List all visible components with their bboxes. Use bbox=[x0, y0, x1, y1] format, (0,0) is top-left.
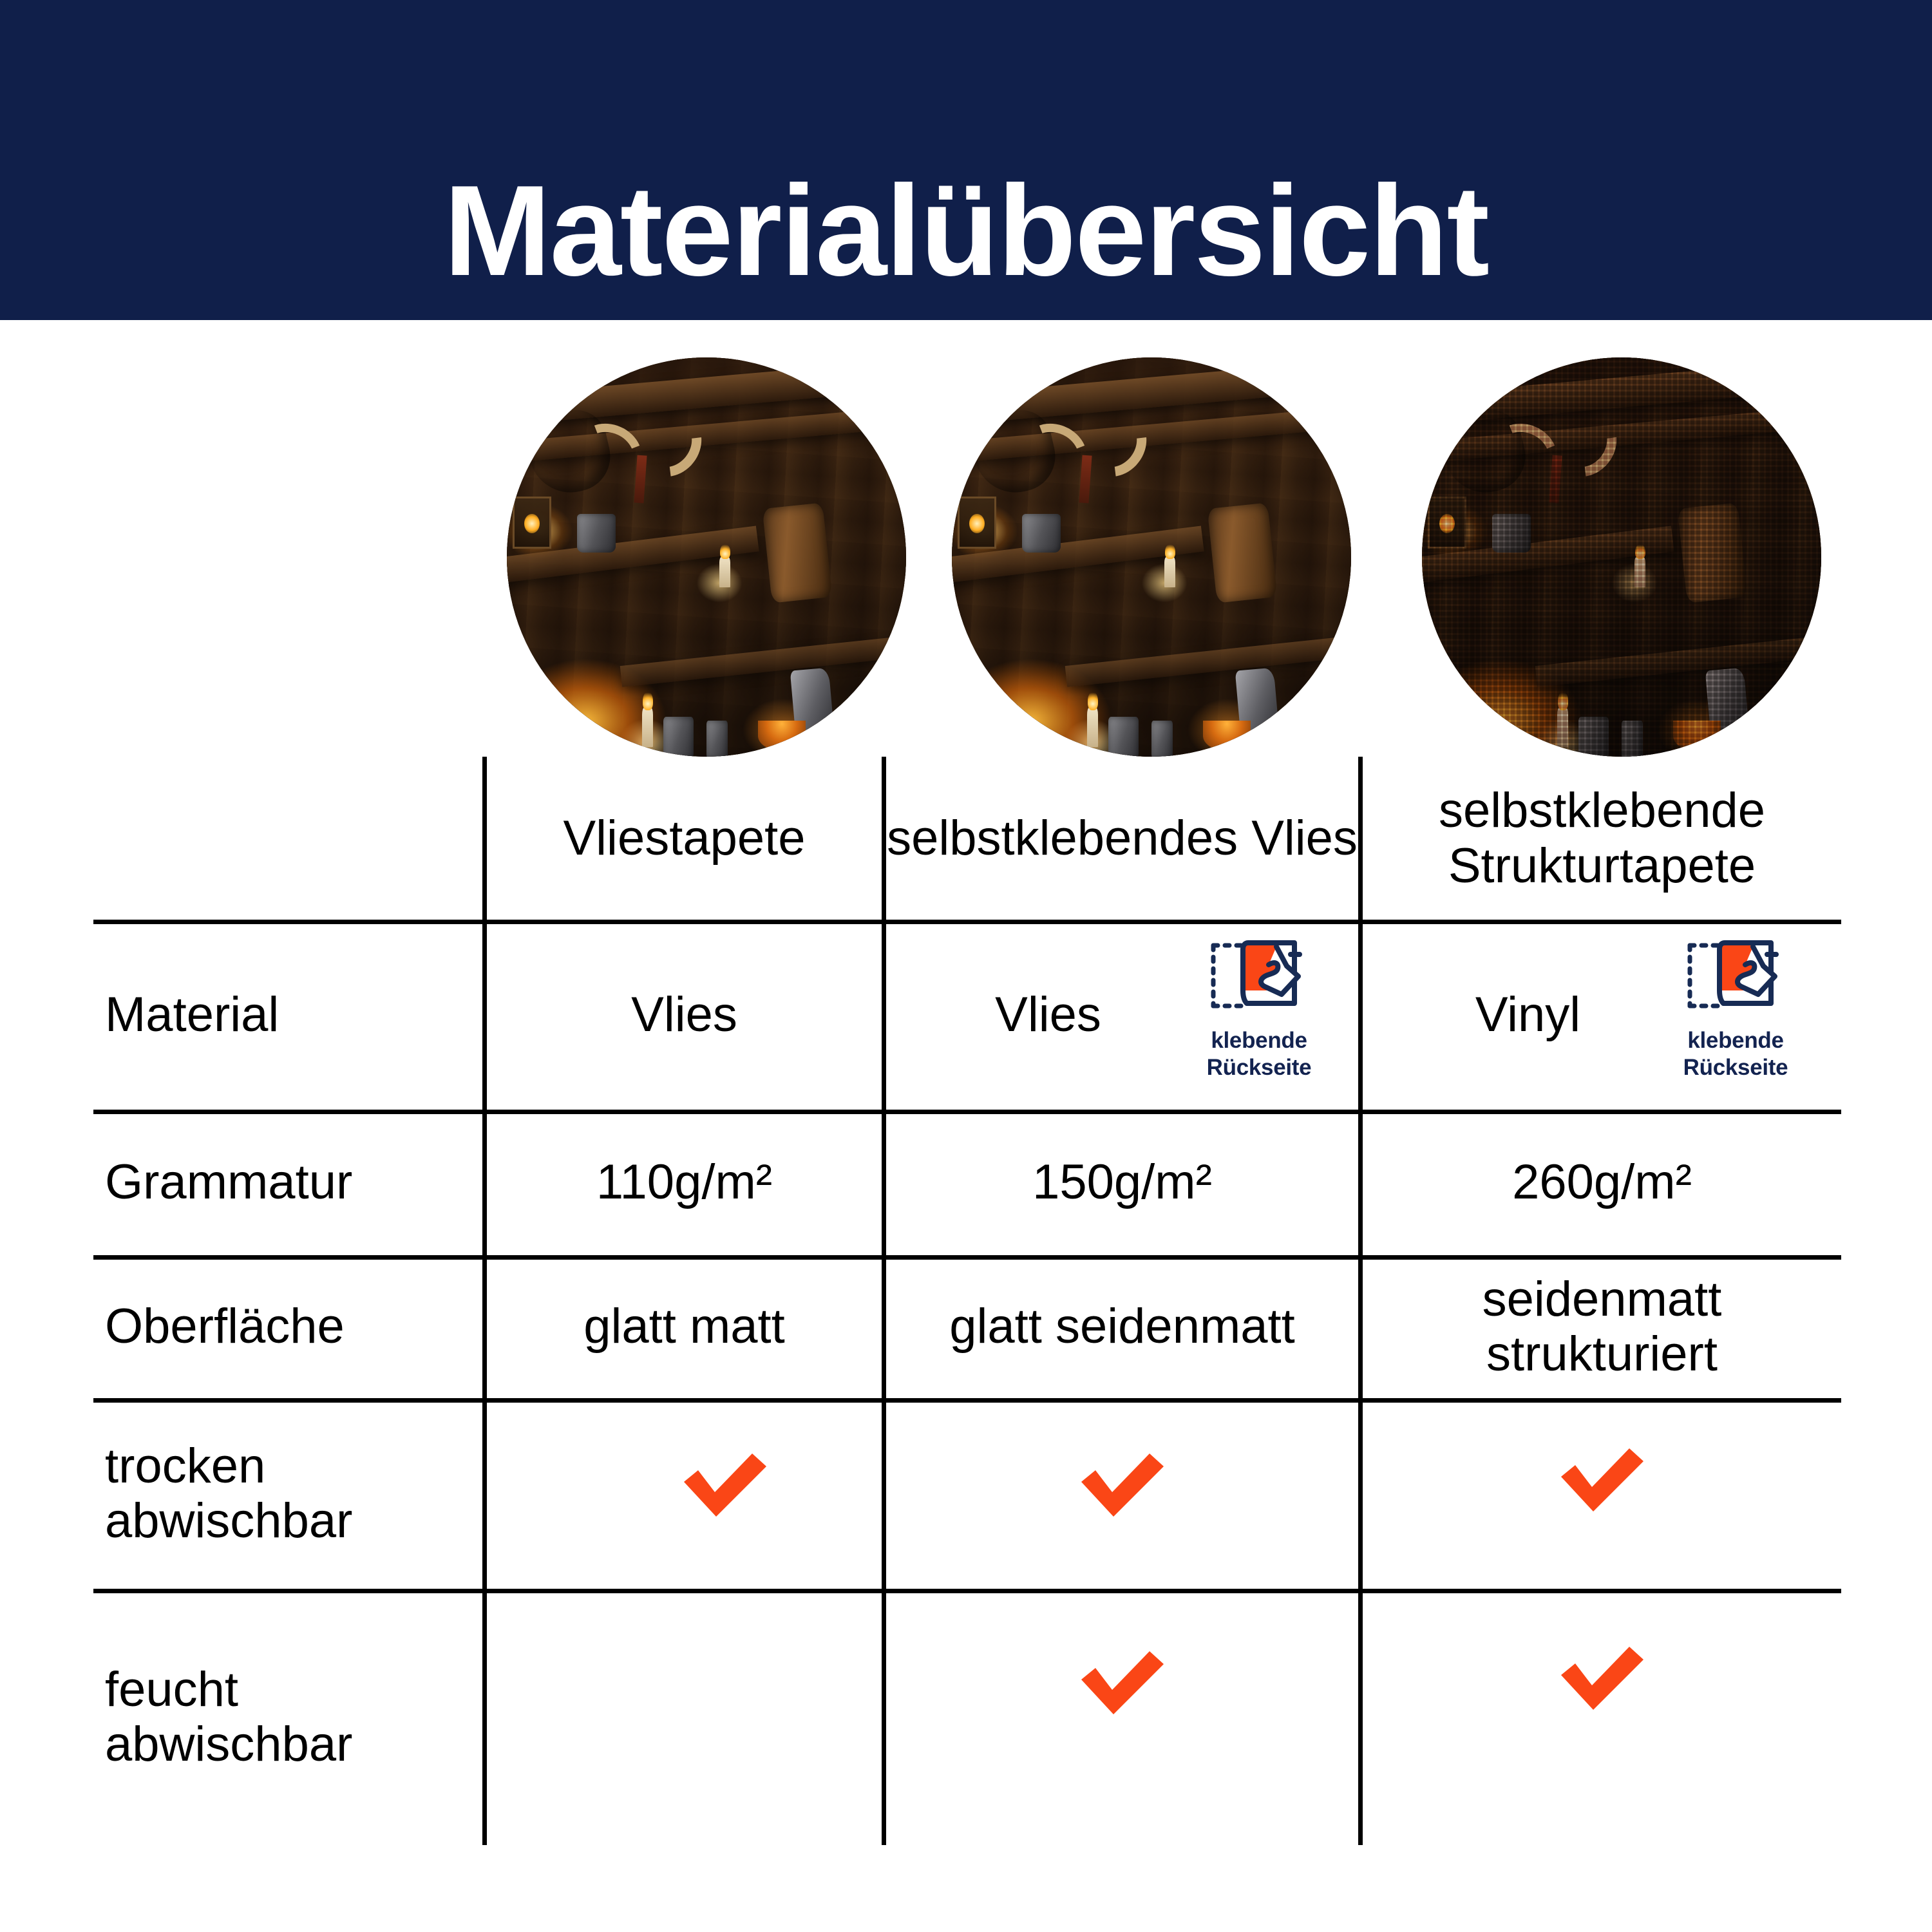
structured-texture-overlay bbox=[1422, 357, 1821, 757]
bull-skull-icon bbox=[971, 402, 1160, 506]
adhesive-badge-line2: Rückseite bbox=[1683, 1056, 1788, 1080]
product-thumbnail-selbstklebende-strukturtapete[interactable] bbox=[1422, 357, 1821, 757]
row-label-grammatur: Grammatur bbox=[93, 1110, 482, 1255]
mug-icon bbox=[1108, 717, 1139, 757]
table-header-vliestapete: Vliestapete bbox=[487, 757, 882, 920]
bowl-icon bbox=[758, 721, 806, 751]
mug-icon bbox=[1151, 721, 1173, 757]
product-thumbnail-selbstklebendes-vlies[interactable] bbox=[952, 357, 1351, 757]
row-label-oberflaeche: Oberfläche bbox=[93, 1255, 482, 1398]
bull-skull-icon bbox=[526, 402, 715, 506]
row-label-material: Material bbox=[93, 920, 482, 1110]
checkmark-icon bbox=[1553, 1638, 1650, 1715]
cell-oberflaeche-selbstklebende-strukturtapete: seidenmatt strukturiert bbox=[1363, 1255, 1841, 1398]
checkmark-icon bbox=[1074, 1642, 1170, 1719]
candle-icon bbox=[1164, 557, 1175, 587]
cell-material-vliestapete: Vlies bbox=[487, 920, 882, 1110]
adhesive-badge-line1: klebende bbox=[1211, 1028, 1307, 1053]
page-header-banner: Materialübersicht bbox=[0, 0, 1932, 320]
page-title: Materialübersicht bbox=[444, 167, 1488, 296]
candle-icon bbox=[719, 557, 730, 587]
mug-icon bbox=[577, 514, 616, 553]
cell-grammatur-selbstklebende-strukturtapete: 260g/m² bbox=[1363, 1110, 1841, 1255]
candle-icon bbox=[1087, 708, 1098, 746]
thumbnail-row bbox=[485, 357, 1839, 757]
peel-adhesive-backing-icon bbox=[1681, 934, 1790, 1026]
checkmark-icon bbox=[1553, 1439, 1650, 1517]
cell-grammatur-vliestapete: 110g/m² bbox=[487, 1110, 882, 1255]
material-overview-page: Materialübersicht bbox=[0, 0, 1932, 1932]
product-thumbnail-vliestapete[interactable] bbox=[507, 357, 906, 757]
row-label-feucht-abwischbar: feucht abwischbar bbox=[93, 1589, 482, 1845]
table-beam-icon bbox=[1065, 630, 1351, 687]
table-header-selbstklebende-strukturtapete: selbstklebende Strukturtapete bbox=[1363, 757, 1841, 920]
barrel-icon bbox=[1207, 502, 1277, 603]
adhesive-badge-line1: klebende bbox=[1687, 1028, 1783, 1053]
material-comparison-table: Vliestapete selbstklebendes Vlies selbst… bbox=[93, 757, 1841, 1845]
mug-icon bbox=[1022, 514, 1061, 553]
cell-grammatur-selbstklebendes-vlies: 150g/m² bbox=[886, 1110, 1358, 1255]
peel-adhesive-backing-icon bbox=[1204, 934, 1314, 1026]
cell-oberflaeche-selbstklebendes-vlies: glatt seidenmatt bbox=[886, 1255, 1358, 1398]
tavern-scene-image bbox=[952, 357, 1351, 757]
cell-oberflaeche-vliestapete: glatt matt bbox=[487, 1255, 882, 1398]
adhesive-backing-badge: klebende Rückseite bbox=[1188, 934, 1330, 1080]
checkmark-icon bbox=[676, 1444, 773, 1522]
checkmark-icon bbox=[1074, 1444, 1170, 1522]
bowl-icon bbox=[1203, 721, 1251, 751]
mug-icon bbox=[706, 721, 728, 757]
adhesive-badge-line2: Rückseite bbox=[1207, 1056, 1312, 1080]
mug-icon bbox=[663, 717, 694, 757]
adhesive-backing-badge: klebende Rückseite bbox=[1665, 934, 1806, 1080]
table-header-selbstklebendes-vlies: selbstklebendes Vlies bbox=[886, 757, 1358, 920]
row-label-trocken-abwischbar: trocken abwischbar bbox=[93, 1398, 482, 1589]
barrel-icon bbox=[762, 502, 832, 603]
candle-icon bbox=[642, 708, 653, 746]
tavern-scene-image bbox=[507, 357, 906, 757]
table-beam-icon bbox=[620, 630, 906, 687]
